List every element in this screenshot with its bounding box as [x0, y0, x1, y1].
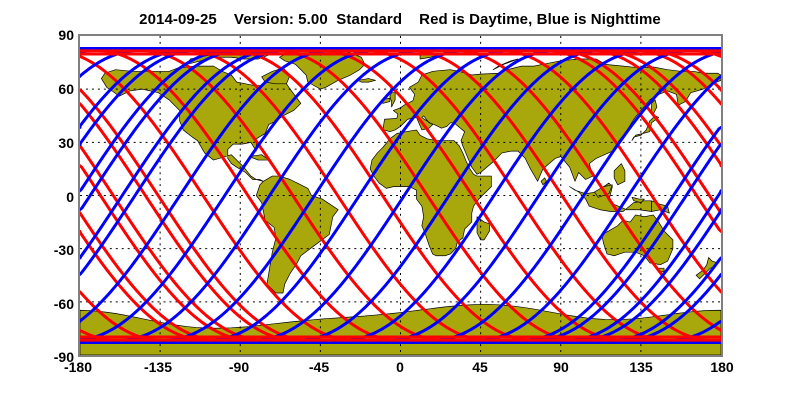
- ground-track-svg: [80, 36, 721, 355]
- x-axis-tick-180: 180: [682, 360, 762, 374]
- y-axis-tick-90: 90: [14, 28, 74, 42]
- x-axis-tick-90: 90: [521, 360, 601, 374]
- x-axis-tick-m135: -135: [118, 360, 198, 374]
- map-plot-area: [78, 34, 723, 357]
- x-axis-tick-45: 45: [440, 360, 520, 374]
- y-axis-tick-60: 60: [14, 82, 74, 96]
- y-axis-tick-30: 30: [14, 136, 74, 150]
- x-axis-tick-m45: -45: [279, 360, 359, 374]
- y-axis-tick-0: 0: [14, 190, 74, 204]
- x-axis-tick-m180: -180: [38, 360, 118, 374]
- x-axis-tick-135: 135: [601, 360, 681, 374]
- ground-track-map-page: 2014-09-25 Version: 5.00 Standard Red is…: [0, 0, 800, 400]
- x-axis-tick-0: 0: [360, 360, 440, 374]
- x-axis-tick-m90: -90: [199, 360, 279, 374]
- y-axis-tick-m60: -60: [14, 297, 74, 311]
- page-title: 2014-09-25 Version: 5.00 Standard Red is…: [0, 11, 800, 28]
- y-axis-tick-m30: -30: [14, 243, 74, 257]
